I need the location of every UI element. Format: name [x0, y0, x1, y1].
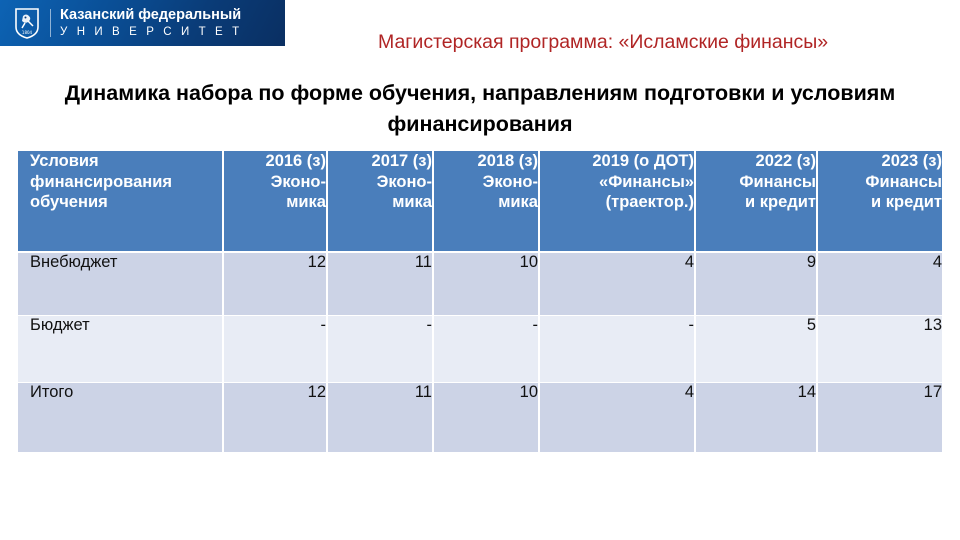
column-header-line: 2018 (з) [434, 151, 538, 172]
kfu-wordmark: Казанский федеральный У Н И В Е Р С И Т … [60, 8, 242, 37]
column-header-line: Эконо- [434, 172, 538, 193]
cell-vnebudzhet-2018: 10 [434, 253, 540, 316]
column-header-conditions: Условия финансирования обучения [18, 151, 224, 253]
cell-itogo-2023: 17 [818, 383, 942, 453]
program-subtitle: Магистерская программа: «Исламские финан… [378, 31, 918, 54]
column-header-line: Финансы [696, 172, 816, 193]
cell-vnebudzhet-2017: 11 [328, 253, 434, 316]
column-header-line: мика [328, 192, 432, 213]
cell-vnebudzhet-2022: 9 [696, 253, 818, 316]
column-header-2018: 2018 (з) Эконо- мика [434, 151, 540, 253]
banner-divider [50, 9, 51, 37]
cell-budzhet-2016: - [224, 316, 328, 383]
cell-itogo-2018: 10 [434, 383, 540, 453]
row-label-budzhet: Бюджет [18, 316, 224, 383]
table-header: Условия финансирования обучения 2016 (з)… [18, 151, 942, 253]
row-label-vnebudzhet: Внебюджет [18, 253, 224, 316]
column-header-2017: 2017 (з) Эконо- мика [328, 151, 434, 253]
cell-itogo-2017: 11 [328, 383, 434, 453]
kfu-name-line1: Казанский федеральный [60, 8, 242, 23]
table-row: Внебюджет 12 11 10 4 9 4 [18, 253, 942, 316]
cell-itogo-2016: 12 [224, 383, 328, 453]
kfu-name-line2: У Н И В Е Р С И Т Е Т [60, 26, 242, 38]
row-label-itogo: Итого [18, 383, 224, 453]
column-header-2023: 2023 (з) Финансы и кредит [818, 151, 942, 253]
column-header-line: Финансы [818, 172, 942, 193]
column-header-line: Эконо- [224, 172, 326, 193]
cell-itogo-2019: 4 [540, 383, 696, 453]
column-header-line: 2022 (з) [696, 151, 816, 172]
cell-budzhet-2023: 13 [818, 316, 942, 383]
svg-text:1804: 1804 [22, 30, 33, 35]
kfu-crest-icon: 1804 [14, 8, 40, 39]
table-body: Внебюджет 12 11 10 4 9 4 Бюджет - - - - … [18, 253, 942, 453]
table-header-row: Условия финансирования обучения 2016 (з)… [18, 151, 942, 253]
column-header-line: 2016 (з) [224, 151, 326, 172]
cell-vnebudzhet-2016: 12 [224, 253, 328, 316]
column-header-2019: 2019 (о ДОТ) «Финансы» (траектор.) [540, 151, 696, 253]
column-header-line: мика [434, 192, 538, 213]
cell-budzhet-2017: - [328, 316, 434, 383]
column-header-line: (траектор.) [540, 192, 694, 213]
column-header-line: Эконо- [328, 172, 432, 193]
cell-vnebudzhet-2023: 4 [818, 253, 942, 316]
cell-budzhet-2022: 5 [696, 316, 818, 383]
column-header-line: обучения [30, 192, 222, 213]
kfu-banner: 1804 Казанский федеральный У Н И В Е Р С… [0, 0, 285, 46]
table-row: Итого 12 11 10 4 14 17 [18, 383, 942, 453]
cell-vnebudzhet-2019: 4 [540, 253, 696, 316]
column-header-line: Условия [30, 151, 222, 172]
column-header-2016: 2016 (з) Эконо- мика [224, 151, 328, 253]
column-header-2022: 2022 (з) Финансы и кредит [696, 151, 818, 253]
column-header-line: «Финансы» [540, 172, 694, 193]
column-header-line: финансирования [30, 172, 222, 193]
column-header-line: и кредит [818, 192, 942, 213]
table-row: Бюджет - - - - 5 13 [18, 316, 942, 383]
cell-budzhet-2018: - [434, 316, 540, 383]
column-header-line: мика [224, 192, 326, 213]
enrollment-table: Условия финансирования обучения 2016 (з)… [18, 151, 942, 453]
page-title: Динамика набора по форме обучения, напра… [48, 78, 912, 139]
column-header-line: 2019 (о ДОТ) [540, 151, 694, 172]
column-header-line: 2023 (з) [818, 151, 942, 172]
cell-budzhet-2019: - [540, 316, 696, 383]
column-header-line: и кредит [696, 192, 816, 213]
cell-itogo-2022: 14 [696, 383, 818, 453]
column-header-line: 2017 (з) [328, 151, 432, 172]
